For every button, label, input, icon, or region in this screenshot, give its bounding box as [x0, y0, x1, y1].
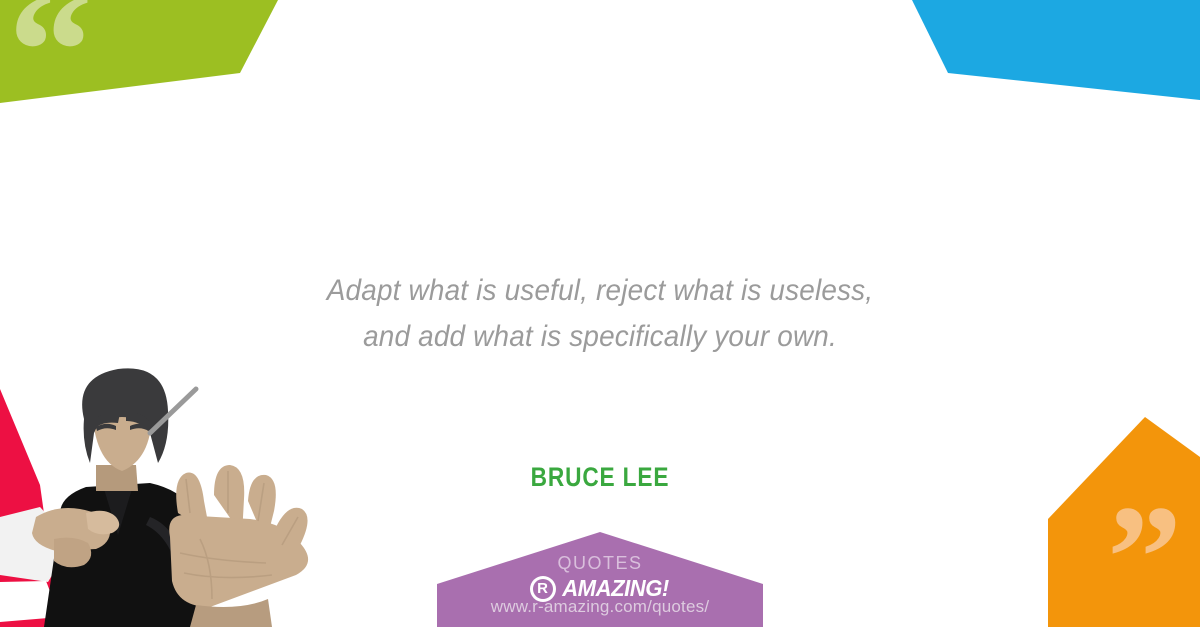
- badge-category-label: QUOTES: [437, 553, 763, 574]
- quote-text: Adapt what is useful, reject what is use…: [0, 268, 1200, 359]
- quote-line-2: and add what is specifically your own.: [42, 314, 1158, 360]
- site-url[interactable]: www.r-amazing.com/quotes/: [437, 597, 763, 617]
- quote-card: “ ”: [0, 0, 1200, 627]
- corner-decoration-bottom-right: ”: [1020, 417, 1200, 627]
- bruce-lee-illustration: [0, 367, 400, 627]
- quote-line-1: Adapt what is useful, reject what is use…: [42, 268, 1158, 314]
- closing-quote-icon: ”: [1107, 483, 1182, 627]
- corner-decoration-top-right: [900, 0, 1200, 110]
- corner-decoration-top-left: “: [0, 0, 290, 110]
- logo-letter: R: [537, 581, 548, 596]
- author-name: BRUCE LEE: [96, 462, 1104, 493]
- opening-quote-icon: “: [8, 0, 93, 136]
- site-badge[interactable]: QUOTES R AMAZING! www.r-amazing.com/quot…: [437, 532, 763, 627]
